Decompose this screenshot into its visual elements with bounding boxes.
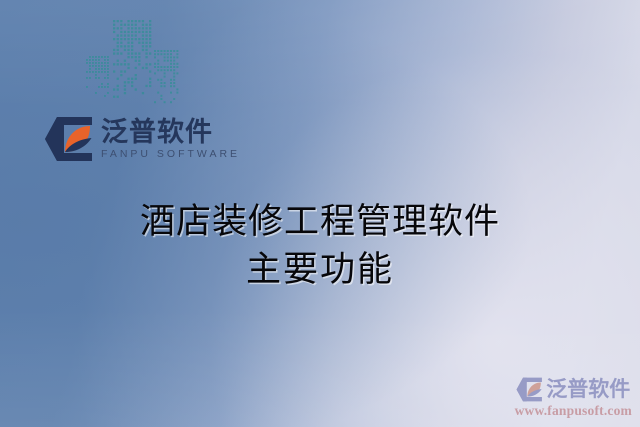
fanpu-watermark-mark-icon: [516, 377, 543, 402]
watermark-url: www.fanpusoft.com: [515, 403, 632, 419]
headline-block: 酒店装修工程管理软件 主要功能: [0, 198, 640, 294]
brand-name-cn: 泛普软件: [101, 119, 240, 146]
slide-canvas: 泛普软件 FANPU SOFTWARE 酒店装修工程管理软件 主要功能 泛普软件…: [0, 0, 640, 427]
fanpu-logo-mark-icon: [44, 116, 94, 162]
watermark-logo-row: 泛普软件: [516, 377, 630, 402]
headline-line-1: 酒店装修工程管理软件: [0, 198, 640, 246]
brand-logo-text: 泛普软件 FANPU SOFTWARE: [101, 119, 240, 160]
corner-watermark: 泛普软件 www.fanpusoft.com: [515, 377, 632, 419]
brand-name-en: FANPU SOFTWARE: [101, 149, 240, 160]
dot-matrix-skyline-icon: [84, 18, 180, 110]
brand-logo-lockup: 泛普软件 FANPU SOFTWARE: [44, 116, 240, 162]
watermark-brand-name: 泛普软件: [546, 379, 630, 400]
headline-line-2: 主要功能: [0, 246, 640, 294]
